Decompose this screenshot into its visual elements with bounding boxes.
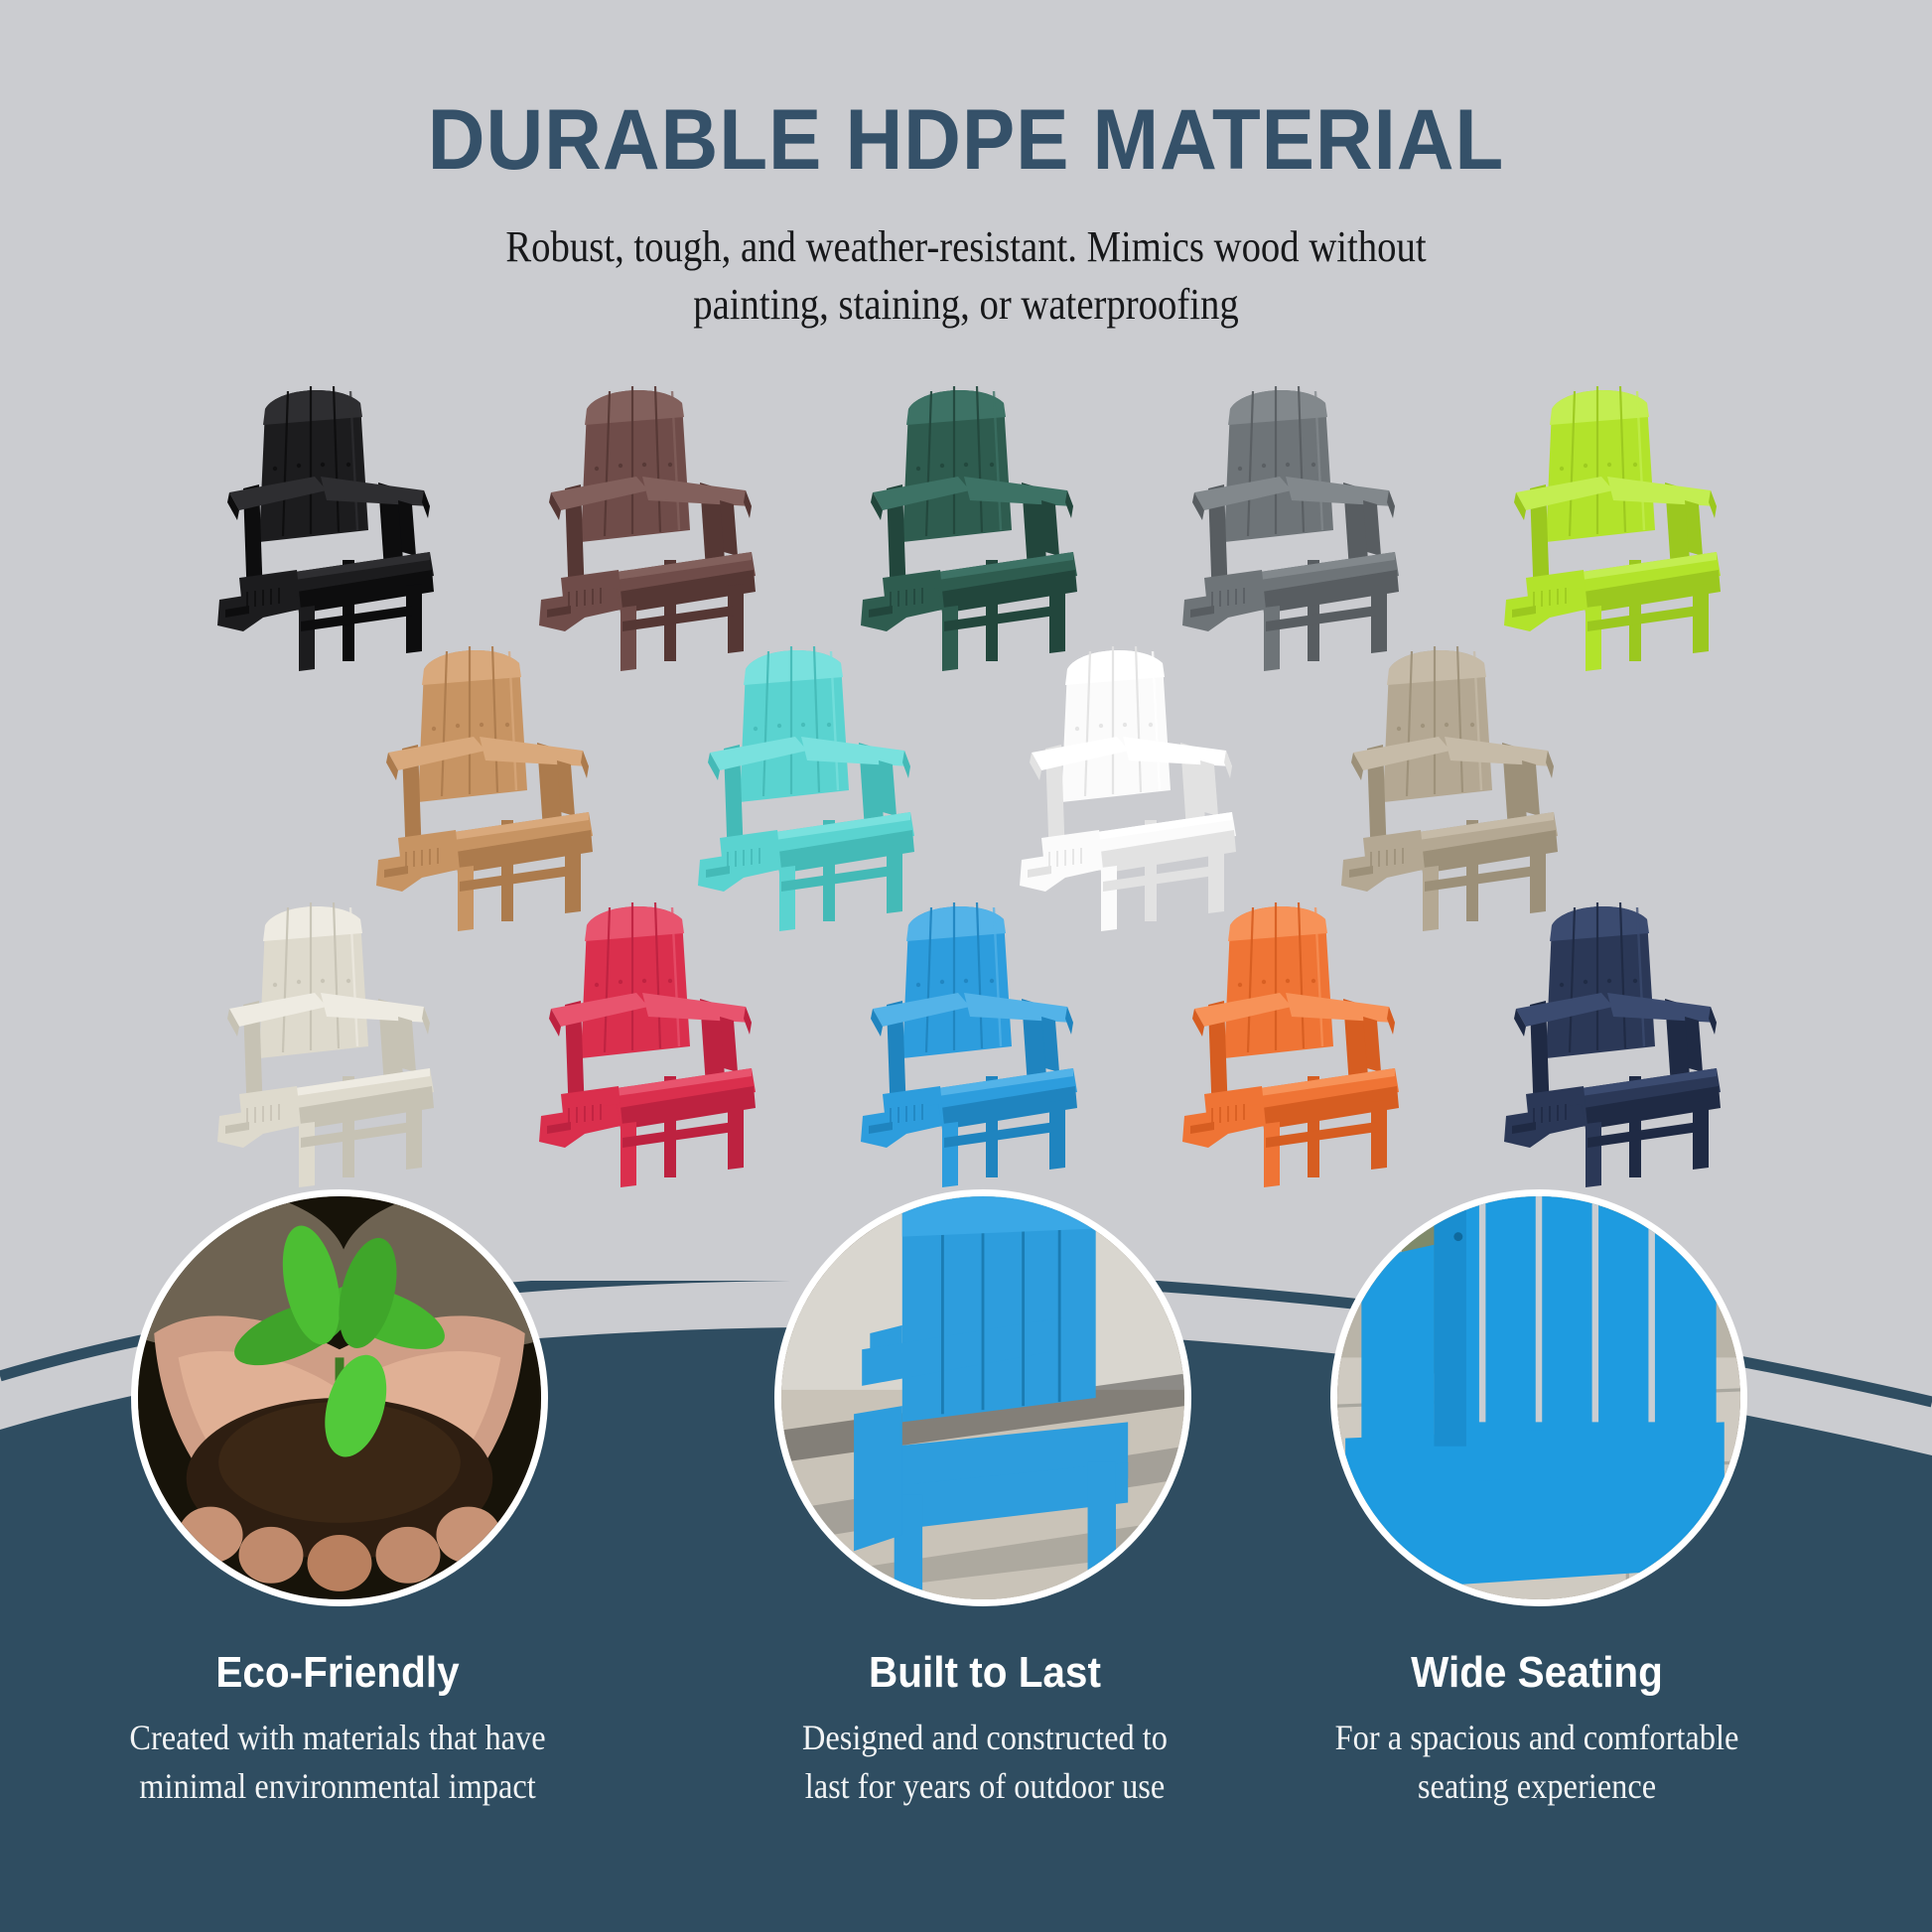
subtitle-line-1: Robust, tough, and weather-resistant. Mi… <box>116 218 1816 276</box>
feature-image-wide-seating <box>1330 1189 1747 1606</box>
adirondack-chair-icon <box>525 882 773 1189</box>
adirondack-chair-icon <box>1490 882 1738 1189</box>
feature-desc-line-1: Created with materials that have <box>87 1714 588 1762</box>
feature-description: For a spacious and comfortable seating e… <box>1287 1714 1787 1811</box>
chair-swatch-red[interactable] <box>525 882 773 1189</box>
chair-swatch-navy[interactable] <box>1490 882 1738 1189</box>
feature-desc-line-1: For a spacious and comfortable <box>1287 1714 1787 1762</box>
feature-desc-line-2: minimal environmental impact <box>87 1762 588 1811</box>
feature-description: Designed and constructed to last for yea… <box>735 1714 1235 1811</box>
adirondack-chair-icon <box>204 882 452 1189</box>
blue-chair-wide-seat-icon <box>1337 1196 1740 1599</box>
feature-item-wide-seating: Wide Seating For a spacious and comforta… <box>1259 1189 1815 1811</box>
feature-desc-line-2: seating experience <box>1287 1762 1787 1811</box>
chair-swatch-ivory[interactable] <box>204 882 452 1189</box>
feature-image-built-to-last <box>774 1189 1191 1606</box>
feature-title: Built to Last <box>729 1648 1240 1698</box>
page-subtitle: Robust, tough, and weather-resistant. Mi… <box>116 218 1816 334</box>
feature-list: Eco-Friendly Created with materials that… <box>0 1189 1932 1932</box>
header-block: DURABLE HDPE MATERIAL Robust, tough, and… <box>0 0 1932 334</box>
feature-item-eco-friendly: Eco-Friendly Created with materials that… <box>60 1189 616 1811</box>
chair-swatch-orange[interactable] <box>1169 882 1417 1189</box>
blue-chair-on-patio-icon <box>781 1196 1184 1599</box>
adirondack-chair-icon <box>1169 882 1417 1189</box>
chair-color-grid <box>0 365 1932 1239</box>
feature-desc-line-2: last for years of outdoor use <box>735 1762 1235 1811</box>
subtitle-line-2: painting, staining, or waterproofing <box>116 276 1816 334</box>
feature-image-eco-friendly <box>131 1189 548 1606</box>
feature-description: Created with materials that have minimal… <box>87 1714 588 1811</box>
feature-title: Eco-Friendly <box>81 1648 593 1698</box>
feature-desc-line-1: Designed and constructed to <box>735 1714 1235 1762</box>
seedling-in-hands-icon <box>138 1196 541 1599</box>
chair-row <box>0 882 1932 1189</box>
page-title: DURABLE HDPE MATERIAL <box>68 95 1864 185</box>
feature-title: Wide Seating <box>1281 1648 1792 1698</box>
feature-item-built-to-last: Built to Last Designed and constructed t… <box>707 1189 1263 1811</box>
adirondack-chair-icon <box>847 882 1095 1189</box>
chair-swatch-blue[interactable] <box>847 882 1095 1189</box>
